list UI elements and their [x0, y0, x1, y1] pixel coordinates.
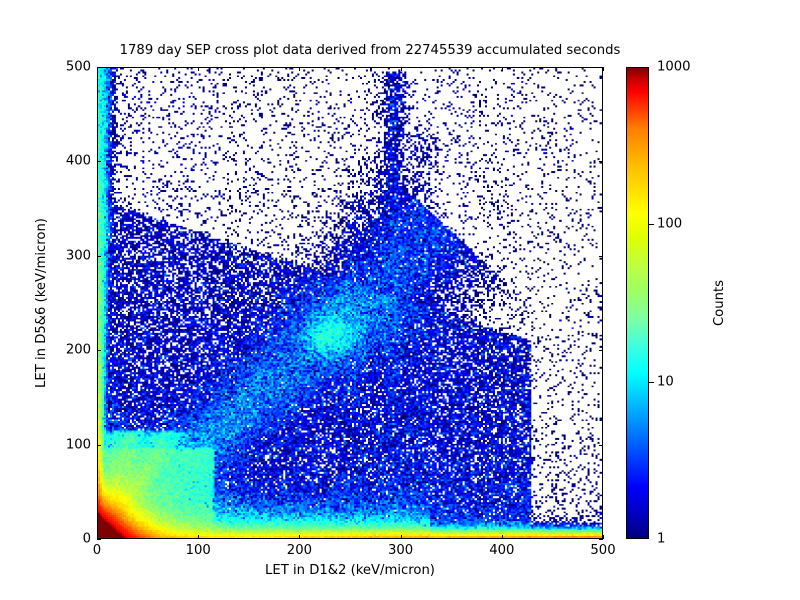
plot-area: [97, 67, 603, 539]
x-tick-bot: [299, 535, 300, 539]
y-tick-right: [599, 539, 603, 540]
x-tick-label: 100: [186, 543, 211, 558]
x-axis-label: LET in D1&2 (keV/micron): [97, 563, 603, 578]
x-tick-label: 0: [93, 543, 101, 558]
x-tick-label: 300: [388, 543, 413, 558]
y-tick-left: [97, 256, 101, 257]
x-tick-top: [299, 67, 300, 71]
colorbar-gradient: [626, 67, 649, 539]
y-tick-left: [97, 445, 101, 446]
x-tick-label: 400: [489, 543, 514, 558]
heatmap-canvas: [98, 68, 602, 538]
x-tick-top: [502, 67, 503, 71]
y-tick-left: [97, 161, 101, 162]
y-tick-right: [599, 350, 603, 351]
x-tick-top: [198, 67, 199, 71]
y-tick-right: [599, 67, 603, 68]
y-tick-label: 0: [0, 532, 91, 547]
y-axis-label: LET in D5&6 (keV/micron): [34, 67, 49, 539]
y-tick-label: 400: [0, 154, 91, 169]
x-tick-bot: [401, 535, 402, 539]
y-tick-label: 500: [0, 60, 91, 75]
y-tick-right: [599, 445, 603, 446]
x-tick-bot: [603, 535, 604, 539]
colorbar-tick-label: 1000: [657, 60, 691, 75]
x-tick-bot: [198, 535, 199, 539]
colorbar-tick: [649, 382, 654, 383]
y-tick-left: [97, 539, 101, 540]
y-tick-left: [97, 67, 101, 68]
x-tick-top: [401, 67, 402, 71]
chart-title-line-1: 1789 day SEP cross plot data derived fro…: [0, 42, 740, 60]
y-tick-right: [599, 256, 603, 257]
y-tick-right: [599, 161, 603, 162]
colorbar-tick-label: 1: [657, 532, 665, 547]
figure: 1789 day SEP cross plot data derived fro…: [0, 0, 800, 600]
y-tick-label: 100: [0, 437, 91, 452]
y-tick-left: [97, 350, 101, 351]
colorbar-tick-label: 100: [657, 217, 682, 232]
colorbar-tick: [649, 224, 654, 225]
x-tick-bot: [502, 535, 503, 539]
colorbar-tick-label: 10: [657, 374, 674, 389]
x-tick-label: 200: [287, 543, 312, 558]
colorbar: 1101001000: [626, 67, 649, 539]
y-tick-label: 200: [0, 343, 91, 358]
x-tick-label: 500: [590, 543, 615, 558]
colorbar-label: Counts: [712, 67, 727, 539]
x-tick-top: [603, 67, 604, 71]
y-tick-label: 300: [0, 248, 91, 263]
